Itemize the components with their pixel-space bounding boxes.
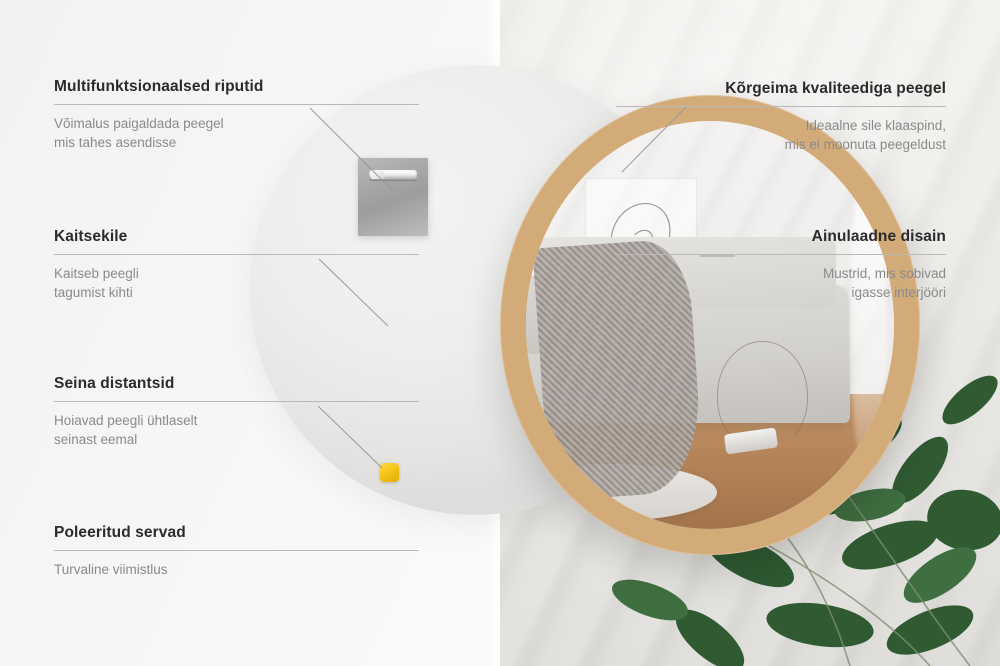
callout-multifunktsionaalsed-riputid: Multifunktsionaalsed riputid Võimalus pa…: [54, 78, 419, 153]
wall-distance-spacer: [380, 463, 399, 482]
callout-rule: [54, 550, 419, 551]
callout-poleeritud-servad: Poleeritud servad Turvaline viimistlus: [54, 524, 419, 579]
callout-rule: [54, 401, 419, 402]
callout-ainulaadne-disain: Ainulaadne disain Mustrid, mis sobivadig…: [616, 228, 946, 303]
glass-highlight: [850, 162, 887, 480]
mirror-wooden-frame: [500, 95, 920, 555]
callout-korgeima-kvaliteediga-peegel: Kõrgeima kvaliteediga peegel Ideaalne si…: [616, 80, 946, 155]
callout-description: Mustrid, mis sobivadigasse interjööri: [616, 264, 946, 303]
callout-description: Turvaline viimistlus: [54, 560, 419, 580]
callout-description: Kaitseb peeglitagumist kihti: [54, 264, 419, 303]
callout-description: Ideaalne sile klaaspind,mis ei moonuta p…: [616, 116, 946, 155]
infographic-stage: Multifunktsionaalsed riputid Võimalus pa…: [0, 0, 1000, 666]
callout-seina-distantsid: Seina distantsid Hoiavad peegli ühtlasel…: [54, 375, 419, 450]
callout-rule: [616, 254, 946, 255]
hanger-keyhole-slot: [369, 170, 417, 180]
mirror-product: [370, 85, 770, 555]
callout-title: Poleeritud servad: [54, 524, 419, 543]
callout-rule: [54, 104, 419, 105]
callout-kaitsekile: Kaitsekile Kaitseb peeglitagumist kihti: [54, 228, 419, 303]
callout-rule: [54, 254, 419, 255]
callout-title: Kõrgeima kvaliteediga peegel: [616, 80, 946, 99]
callout-title: Ainulaadne disain: [616, 228, 946, 247]
callout-title: Multifunktsionaalsed riputid: [54, 78, 419, 97]
mirror-glass-surface: [526, 121, 894, 529]
callout-description: Hoiavad peegli ühtlaseltseinast eemal: [54, 411, 419, 450]
callout-description: Võimalus paigaldada peegelmis tahes asen…: [54, 114, 419, 153]
wall-hanger-plate: [358, 158, 428, 236]
callout-title: Seina distantsid: [54, 375, 419, 394]
callout-rule: [616, 106, 946, 107]
callout-title: Kaitsekile: [54, 228, 419, 247]
